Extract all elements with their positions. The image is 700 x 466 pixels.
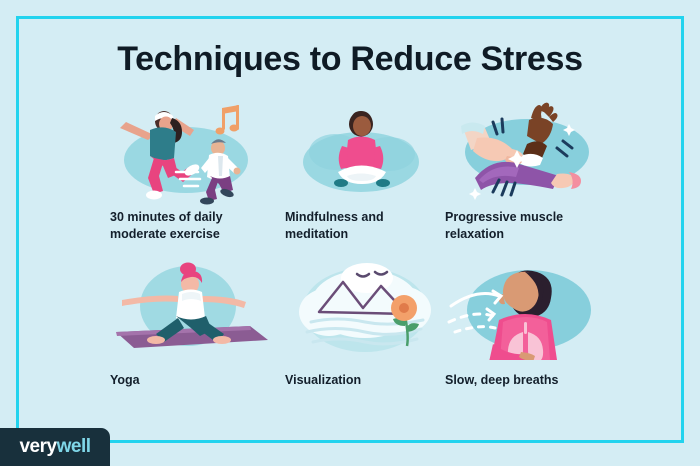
technique-label: Progressive muscle relaxation [445, 209, 595, 243]
technique-card-visualization[interactable]: Visualization [285, 260, 465, 389]
verywell-logo[interactable]: verywell [0, 428, 110, 466]
techniques-row-1: 30 minutes of daily moderate exercise [0, 100, 700, 260]
technique-card-deep-breaths[interactable]: Slow, deep breaths [445, 260, 625, 389]
technique-label: Visualization [285, 372, 435, 389]
technique-label: 30 minutes of daily moderate exercise [110, 209, 260, 243]
technique-card-exercise[interactable]: 30 minutes of daily moderate exercise [110, 100, 290, 243]
page-title: Techniques to Reduce Stress [0, 40, 700, 79]
infographic-canvas: Techniques to Reduce Stress [0, 0, 700, 466]
techniques-row-2: Yoga [0, 260, 700, 420]
technique-card-mindfulness[interactable]: Mindfulness and meditation [285, 100, 465, 243]
logo-text-very: very [19, 436, 56, 457]
technique-card-yoga[interactable]: Yoga [110, 260, 290, 389]
technique-label: Slow, deep breaths [445, 372, 595, 389]
person-breathing-lungs-icon [445, 260, 610, 360]
warrior-pose-on-mat-icon [110, 260, 275, 360]
dancing-and-running-people-icon [110, 100, 275, 205]
logo-text-well: well [57, 436, 91, 457]
mountain-landscape-cloud-icon [285, 260, 450, 360]
logo-text: verywell [19, 436, 90, 458]
flexing-arms-and-leg-icon [445, 100, 610, 205]
techniques-grid: 30 minutes of daily moderate exercise [0, 100, 700, 420]
technique-card-muscle-relaxation[interactable]: Progressive muscle relaxation [445, 100, 625, 243]
technique-label: Mindfulness and meditation [285, 209, 435, 243]
person-meditating-lotus-icon [285, 100, 450, 205]
technique-label: Yoga [110, 372, 260, 389]
